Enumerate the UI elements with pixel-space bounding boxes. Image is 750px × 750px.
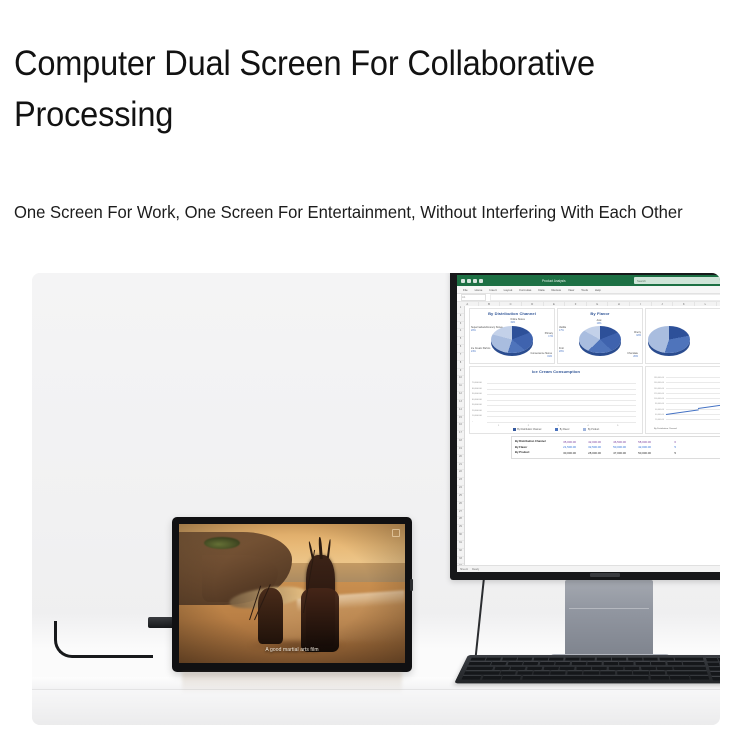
formula-bar[interactable]: A1	[457, 294, 720, 302]
ribbon-tab-formulas[interactable]: Formulas	[519, 288, 531, 292]
row-header-3[interactable]: 3	[457, 322, 464, 330]
y-tick-label: 60,000.00	[472, 388, 482, 390]
ribbon-tab-insert[interactable]: Insert	[489, 288, 496, 292]
key[interactable]	[657, 666, 672, 670]
pie-label-vanilla: Vanilla 17%	[559, 326, 566, 332]
portable-monitor-screen: A good martial arts film	[179, 524, 405, 663]
row-header-31[interactable]: 31	[457, 541, 464, 549]
gridline	[487, 394, 636, 395]
chart-by-distribution-channel[interactable]: By Distribution Channel Online Stores 19…	[469, 308, 555, 364]
monitor-bezel: Product Analysis Search File Home Insert…	[450, 273, 720, 580]
sheet-body: 1234567891011121314151617181920212223242…	[457, 306, 720, 572]
table-cell: 42,000.00	[628, 445, 653, 449]
gridline	[666, 419, 720, 420]
table-cell: 5	[653, 445, 678, 449]
gridline	[666, 382, 720, 383]
line-legend-label: By Distribution Channel	[654, 428, 677, 430]
sheet-tab[interactable]: Sheet1	[460, 568, 468, 571]
screen-reflection	[182, 672, 402, 694]
row-header-18[interactable]: 18	[457, 439, 464, 447]
table-cell: 30,000.00	[553, 451, 578, 455]
keypad-row[interactable]	[709, 667, 720, 671]
key[interactable]	[673, 666, 706, 670]
chart-legend: By Distribution Channel By Flavor By Pro…	[470, 428, 642, 431]
key[interactable]	[533, 657, 548, 661]
legend-item-flavor: By Flavor	[555, 428, 569, 431]
key[interactable]	[502, 657, 517, 661]
row-header-27[interactable]: 27	[457, 510, 464, 518]
key[interactable]	[527, 666, 543, 670]
monitor-stand	[565, 580, 653, 658]
row-header-6[interactable]: 6	[457, 345, 464, 353]
pie-label-chocolate: Chocolate 26%	[627, 352, 638, 358]
spreadsheet-titlebar: Product Analysis Search	[457, 275, 720, 286]
formula-input[interactable]	[490, 294, 720, 301]
line-chart-yaxis: 180,000.00160,000.00140,000.00120,000.00…	[648, 377, 664, 419]
row-header-8[interactable]: 8	[457, 361, 464, 369]
pie-label-fruit: Fruit 20%	[559, 347, 564, 353]
pie-value-text: 19%	[597, 322, 602, 325]
pie-value-text: 18%	[636, 334, 641, 337]
game-subtitle: A good martial arts film	[179, 647, 405, 653]
chart-by-flavor[interactable]: By Flavor Vanilla 17% Acai	[557, 308, 643, 364]
key[interactable]	[522, 675, 650, 679]
row-header-23[interactable]: 23	[457, 478, 464, 486]
x-tick-label: 4	[587, 425, 588, 427]
pie-value-text: 19%	[547, 355, 552, 358]
table-cell: 35,000.00	[553, 440, 578, 444]
search-input[interactable]: Search	[634, 277, 720, 284]
chart-ice-cream-consumption[interactable]: Ice Cream Consumption 70,000.0060,000.00…	[469, 366, 643, 434]
pie-chart	[646, 316, 720, 356]
hud-icon	[392, 529, 400, 537]
y-tick-label: 120,000.00	[654, 393, 664, 395]
keyboard-row-5[interactable]	[461, 675, 709, 679]
key[interactable]	[592, 666, 607, 670]
table-cell: 46,500.00	[603, 440, 628, 444]
legend-label: By Flavor	[560, 429, 570, 431]
chart-title: Ice Cream Consumption	[470, 369, 642, 374]
keyboard-row-4[interactable]	[464, 671, 708, 675]
row-header-25[interactable]: 25	[457, 494, 464, 502]
row-header-26[interactable]: 26	[457, 502, 464, 510]
legend-item-distribution: By Distribution Channel	[513, 428, 542, 431]
y-tick-label: 80,000.00	[655, 403, 664, 405]
y-tick-label: 70,000.00	[472, 382, 482, 384]
summary-data-table[interactable]: By Distribution Channel 35,000.00 42,000…	[511, 436, 720, 459]
pie-chart: Vanilla 17% Acai 19% Cherry	[558, 316, 642, 356]
monitor-port-icon	[410, 579, 413, 591]
redo-icon[interactable]	[473, 279, 477, 283]
y-tick-label: 20,000.00	[655, 419, 664, 421]
scene-vignette	[179, 524, 405, 663]
pie-value-text: 17%	[559, 329, 564, 332]
document-name: Product Analysis	[542, 279, 566, 283]
pie-label-supermarkets: Supermarkets/Grocery Stores 20%	[471, 326, 503, 332]
key[interactable]	[581, 657, 595, 661]
key[interactable]	[507, 661, 523, 665]
bar-chart-plot: 70,000.0060,000.0050,000.0040,000.0030,0…	[470, 383, 642, 422]
y-tick-label: 60,000.00	[655, 409, 664, 411]
gridline	[487, 411, 636, 412]
key[interactable]	[502, 675, 522, 679]
x-tick-label: 5	[617, 425, 618, 427]
gridline	[487, 422, 636, 423]
table-cell: 50,000.00	[603, 445, 628, 449]
bar-axis: 70,000.0060,000.0050,000.0040,000.0030,0…	[487, 383, 636, 422]
row-label: By Product	[515, 451, 553, 454]
row-header-33[interactable]: 33	[457, 557, 464, 565]
row-label: By Distribution Channel	[515, 440, 553, 443]
keypad-key[interactable]	[712, 676, 720, 680]
ribbon-tab-home[interactable]: Home	[475, 288, 483, 292]
table-cell: 28,000.00	[578, 451, 603, 455]
keypad-row[interactable]	[706, 657, 720, 661]
legend-label: By Product	[588, 429, 599, 431]
key[interactable]	[690, 675, 709, 679]
row-header-5[interactable]: 5	[457, 337, 464, 345]
key[interactable]	[470, 657, 486, 661]
y-tick-label: 30,000.00	[472, 404, 482, 406]
pie-label-primary: Primary 17%	[545, 332, 553, 338]
key[interactable]	[567, 671, 583, 675]
keyboard-row-3[interactable]	[466, 666, 706, 670]
key[interactable]	[600, 671, 615, 675]
product-photo: Product Analysis Search File Home Insert…	[32, 273, 720, 725]
pie-shape	[579, 326, 621, 353]
y-tick-label: 40,000.00	[472, 399, 482, 401]
name-box[interactable]: A1	[461, 294, 486, 301]
row-header-20[interactable]: 20	[457, 455, 464, 463]
keypad-key[interactable]	[710, 671, 720, 675]
key[interactable]	[650, 671, 666, 675]
pie-label-parlors: Ice Cream Parlors 24%	[471, 347, 490, 353]
row-header-12[interactable]: 12	[457, 392, 464, 400]
key[interactable]	[674, 657, 703, 661]
row-label: By Flavor	[515, 446, 553, 449]
ribbon-tabs[interactable]: File Home Insert Layout Formulas Data Re…	[457, 286, 720, 294]
row-header-2[interactable]: 2	[457, 314, 464, 322]
ribbon-tab-file[interactable]: File	[463, 288, 468, 292]
x-tick-label: 1	[498, 425, 499, 427]
key[interactable]	[603, 661, 617, 665]
row-header-19[interactable]: 19	[457, 447, 464, 455]
legend-swatch	[583, 428, 586, 431]
key[interactable]	[491, 661, 507, 665]
table-cell: 50,000.00	[628, 451, 653, 455]
pie-value-text: 24%	[471, 350, 476, 353]
key[interactable]	[625, 666, 640, 670]
row-header-22[interactable]: 22	[457, 470, 464, 478]
ribbon-tab-help[interactable]: Help	[595, 288, 601, 292]
ribbon-tab-review[interactable]: Review	[551, 288, 560, 292]
spreadsheet-app: Product Analysis Search File Home Insert…	[457, 275, 720, 572]
key[interactable]	[486, 657, 502, 661]
keyboard[interactable]	[454, 655, 720, 683]
y-tick-label: 160,000.00	[654, 382, 664, 384]
ribbon-tab-layout[interactable]: Layout	[504, 288, 513, 292]
key[interactable]	[683, 661, 706, 665]
y-tick-label: 40,000.00	[655, 414, 664, 416]
row-header-14[interactable]: 14	[457, 408, 464, 416]
cable-cord	[54, 621, 153, 658]
key[interactable]	[518, 657, 533, 661]
key[interactable]	[461, 675, 481, 679]
key[interactable]	[571, 661, 586, 665]
key[interactable]	[650, 675, 669, 679]
keypad-key[interactable]	[709, 667, 720, 671]
gridline	[666, 403, 720, 404]
y-tick-label: 140,000.00	[654, 388, 664, 390]
pie-value-text: 26%	[633, 355, 638, 358]
y-tick-label: 180,000.00	[654, 377, 664, 379]
pie-chart: Online Stores 19% Primary 17% Supermarke…	[470, 316, 554, 356]
row-header-28[interactable]: 28	[457, 517, 464, 525]
usb-c-cable	[54, 617, 174, 659]
legend-swatch	[513, 428, 516, 431]
key[interactable]	[550, 671, 566, 675]
key[interactable]	[659, 657, 674, 661]
pie-value-text: 17%	[548, 335, 553, 338]
key[interactable]	[464, 671, 500, 675]
y-tick-label: 50,000.00	[472, 393, 482, 395]
pie-value-text: 20%	[471, 329, 476, 332]
row-header-16[interactable]: 16	[457, 423, 464, 431]
chart-by-product-partial[interactable]	[645, 308, 720, 364]
key[interactable]	[667, 661, 682, 665]
key[interactable]	[576, 666, 591, 670]
key[interactable]	[555, 661, 570, 665]
usb-c-plug-icon	[148, 617, 174, 628]
row-header-15[interactable]: 15	[457, 416, 464, 424]
table-cell: 47,000.00	[603, 451, 628, 455]
key[interactable]	[539, 661, 554, 665]
pie-value-text: 19%	[510, 321, 515, 324]
ribbon-tab-data[interactable]: Data	[538, 288, 544, 292]
key[interactable]	[533, 671, 549, 675]
key[interactable]	[666, 671, 707, 675]
keypad-row[interactable]	[710, 671, 720, 675]
row-header-29[interactable]: 29	[457, 525, 464, 533]
y-tick-label: 20,000.00	[472, 410, 482, 412]
y-tick-label: 100,000.00	[654, 398, 664, 400]
key[interactable]	[560, 666, 575, 670]
gridline	[666, 393, 720, 394]
portable-monitor-bezel: A good martial arts film	[172, 517, 412, 672]
monitor-brand-logo	[590, 573, 620, 577]
save-icon[interactable]	[461, 279, 465, 283]
key[interactable]	[619, 661, 634, 665]
gridline	[666, 388, 720, 389]
status-bar[interactable]: Sheet1 Ready	[457, 565, 720, 572]
y-tick-label: -	[472, 421, 473, 423]
ribbon-tab-view[interactable]: View	[568, 288, 574, 292]
row-header-13[interactable]: 13	[457, 400, 464, 408]
key[interactable]	[500, 671, 516, 675]
y-tick-label: 10,000.00	[472, 415, 482, 417]
gridline	[487, 405, 636, 406]
row-header-21[interactable]: 21	[457, 463, 464, 471]
keyboard-row-2[interactable]	[468, 661, 705, 665]
table-cell: 21,500.00	[553, 445, 578, 449]
row-headers[interactable]: 1234567891011121314151617181920212223242…	[457, 306, 465, 572]
key[interactable]	[565, 657, 580, 661]
legend-label: By Distribution Channel	[517, 429, 541, 431]
desktop-monitor: Product Analysis Search File Home Insert…	[450, 273, 720, 613]
row-header-9[interactable]: 9	[457, 369, 464, 377]
page-title: Computer Dual Screen For Collaborative P…	[14, 38, 698, 140]
key[interactable]	[643, 657, 658, 661]
row-header-17[interactable]: 17	[457, 431, 464, 439]
key[interactable]	[587, 661, 602, 665]
key[interactable]	[609, 666, 624, 670]
keypad-row[interactable]	[707, 662, 720, 666]
key[interactable]	[517, 671, 533, 675]
table-cell: 6	[653, 440, 678, 444]
key[interactable]	[633, 671, 648, 675]
print-icon[interactable]	[479, 279, 483, 283]
table-cell: 58,000.00	[628, 440, 653, 444]
key[interactable]	[523, 661, 538, 665]
table-row[interactable]: By Product 30,000.00 28,000.00 47,000.00…	[515, 450, 720, 456]
pie-label-convenience: Convenience Stores 19%	[530, 352, 552, 358]
pie-label-partial-top	[648, 324, 649, 327]
gridline	[666, 398, 720, 399]
key[interactable]	[670, 675, 689, 679]
key[interactable]	[510, 666, 526, 670]
key[interactable]	[481, 675, 501, 679]
gridline	[666, 377, 720, 378]
key[interactable]	[543, 666, 558, 670]
line-chart-plot	[666, 377, 720, 419]
row-header-32[interactable]: 32	[457, 549, 464, 557]
legend-swatch	[555, 428, 558, 431]
keypad-key[interactable]	[706, 657, 718, 661]
chart-value-line-partial[interactable]: Va 180,000.00160,000.00140,000.00120,000…	[645, 366, 720, 434]
page-subtitle: One Screen For Work, One Screen For Ente…	[14, 195, 725, 229]
row-header-4[interactable]: 4	[457, 329, 464, 337]
table-cell: 32,500.00	[578, 445, 603, 449]
key[interactable]	[641, 666, 656, 670]
gridline	[487, 400, 636, 401]
x-tick-label: 2	[528, 425, 529, 427]
key[interactable]	[628, 657, 642, 661]
pie-shape	[648, 326, 690, 353]
x-tick-label: 3	[558, 425, 559, 427]
pie-label-cherry: Cherry 18%	[634, 331, 641, 337]
key[interactable]	[612, 657, 626, 661]
legend-item-product: By Product	[583, 428, 599, 431]
table-cell: 42,000.00	[578, 440, 603, 444]
sheet-grid[interactable]: By Distribution Channel Online Stores 19…	[465, 306, 720, 572]
key[interactable]	[468, 661, 491, 665]
chart-title: Va	[646, 369, 720, 374]
ribbon-tab-tools[interactable]: Tools	[581, 288, 588, 292]
row-header-24[interactable]: 24	[457, 486, 464, 494]
key[interactable]	[549, 657, 564, 661]
row-header-7[interactable]: 7	[457, 353, 464, 361]
pie-label-online-stores: Online Stores 19%	[510, 318, 524, 324]
key[interactable]	[596, 657, 610, 661]
key[interactable]	[584, 671, 599, 675]
gridline	[487, 389, 636, 390]
keyboard-row-1[interactable]	[470, 657, 703, 661]
keypad-key[interactable]	[707, 662, 719, 666]
portable-monitor: A good martial arts film	[172, 517, 412, 672]
pie-value-text: 20%	[559, 350, 564, 353]
row-header-10[interactable]: 10	[457, 376, 464, 384]
keypad-row[interactable]	[712, 676, 720, 680]
key[interactable]	[617, 671, 632, 675]
pie-label-acai: Acai 19%	[597, 319, 602, 325]
undo-icon[interactable]	[467, 279, 471, 283]
row-header-30[interactable]: 30	[457, 533, 464, 541]
key[interactable]	[494, 666, 510, 670]
key[interactable]	[635, 661, 650, 665]
keyboard-body[interactable]	[454, 655, 720, 683]
status-text: Ready	[472, 568, 479, 571]
row-header-11[interactable]: 11	[457, 384, 464, 392]
quick-access-toolbar[interactable]	[461, 279, 483, 283]
row-header-1[interactable]: 1	[457, 306, 464, 314]
gridline	[487, 416, 636, 417]
table-cell: 5	[653, 451, 678, 455]
key[interactable]	[651, 661, 666, 665]
monitor-screen: Product Analysis Search File Home Insert…	[457, 275, 720, 572]
key[interactable]	[466, 666, 494, 670]
gridline	[487, 383, 636, 384]
desk-front	[32, 689, 720, 725]
